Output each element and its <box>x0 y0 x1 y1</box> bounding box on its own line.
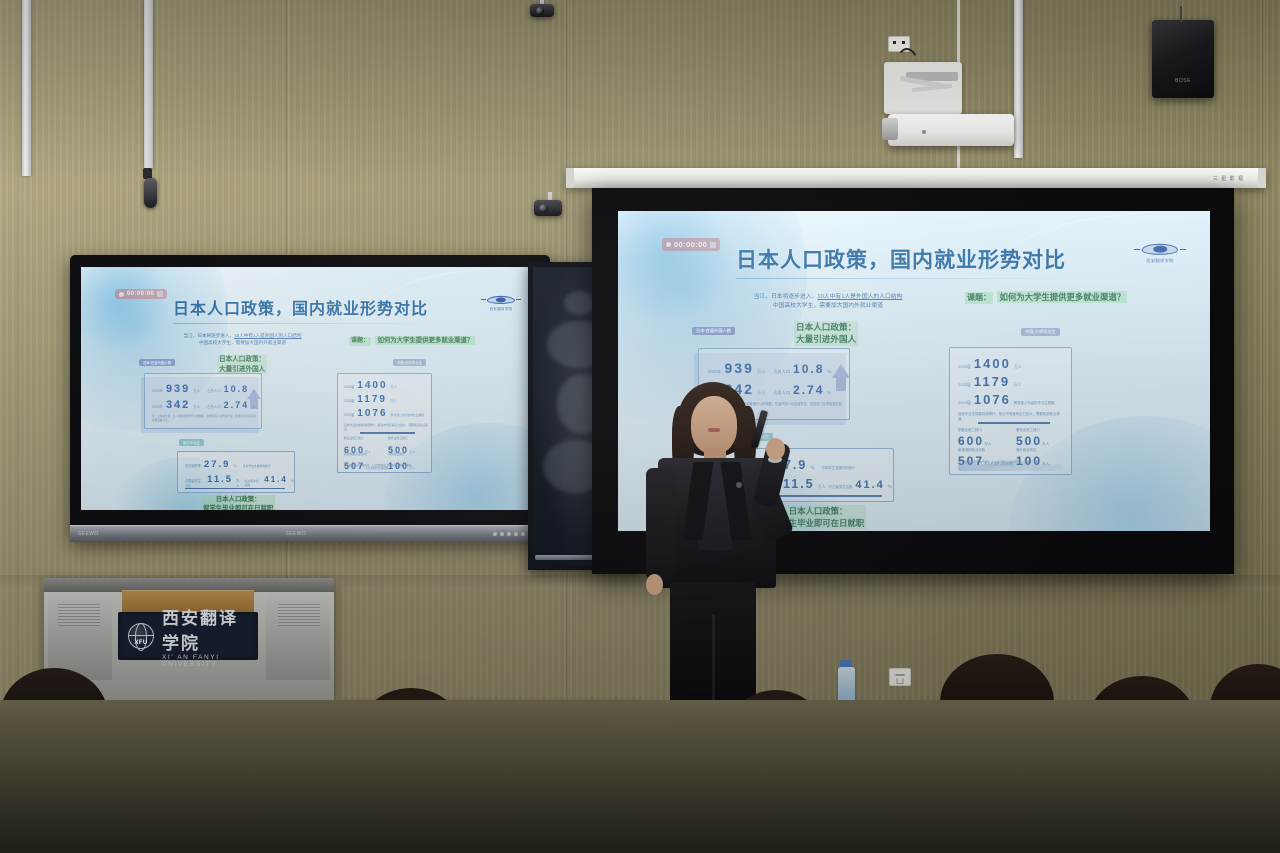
row-value2: 10.8 <box>793 362 824 376</box>
divider-line <box>185 488 285 489</box>
nameplate-text: 西安翻译学院 XI' AN FANYI UNIVERSITY <box>162 604 248 668</box>
row-unit: 万人 <box>391 384 397 389</box>
projector-indicator-icon <box>922 130 926 134</box>
callout-left-caption: 日本人口政策： 大量引进外国人 <box>794 321 858 346</box>
callout-left-tag: 日本·在留外国人数 <box>692 327 735 335</box>
row-value: 1400 <box>974 356 1011 371</box>
row-label: 2013年 <box>152 404 163 409</box>
presenter-hand-left <box>646 574 663 595</box>
row-value2: 10.8 <box>224 384 250 394</box>
row-mid: 约占留学生总数 <box>829 484 853 489</box>
intro-line2: 中国高校大学生，需要加大国内外就业渠道 <box>199 340 286 345</box>
intro-prefix: 当江，日本将逐步进入， <box>184 333 235 338</box>
data-row: 2024届 1076 教育部公布高校毕业生规模 <box>958 392 1055 407</box>
classroom-scene: BOSE 00:00:00 日本人口政策，国内就业形势对比 <box>0 0 1280 853</box>
slide-timer-badge: 00:00:00 <box>662 238 720 251</box>
data-row: 在日就职率 27.9 ％ 日本学生支援机构统计 <box>185 459 271 470</box>
data-row: 2023年 939 万人 占总人口 10.8 ％ <box>708 360 832 376</box>
row-label: 2024届 <box>344 412 354 417</box>
board-button-icon[interactable] <box>521 532 525 536</box>
globe-logo-icon: XFU <box>128 623 154 649</box>
conduit-pipe <box>22 0 31 176</box>
slide-intro-text: 当江，日本将逐步进入，10人中有1人是外国人的人口结构 中国高校大学生，需要加大… <box>155 333 330 347</box>
smartboard-brand-center: SEEWO <box>286 531 307 537</box>
logo-eye-pupil <box>1153 246 1167 253</box>
caption-line2: 大量引进外国人 <box>219 366 265 373</box>
row-label: 2026届 <box>344 384 354 389</box>
row-unit: 万人 <box>1014 364 1022 370</box>
data-row: 2013年 342 万人 占总人口 2.74 ％ <box>152 399 256 411</box>
university-name-cn: 西安翻译学院 <box>162 604 248 654</box>
wall-seam <box>1262 0 1265 720</box>
row-unit: ％ <box>233 463 236 468</box>
caption-line1: 日本人口政策： <box>219 356 265 363</box>
camera-lens-icon <box>536 7 544 15</box>
callout-right-subnote: 高校毕业生规模持续攀升，就业市场竞争压力加大，需要拓宽就业渠道。 <box>958 411 1066 421</box>
task-box: 课题： 如何为大学生提供更多就业渠道？ <box>349 329 484 347</box>
row-unit2: ％ <box>888 484 892 490</box>
callout-right-box: 2026届 1400 万人 2025届 1179 万人 2024届 1076 教… <box>337 373 432 473</box>
row-label: 2026届 <box>958 364 971 370</box>
row-label2: 占总人口 <box>207 404 221 409</box>
row-unit2: ％ <box>827 390 831 396</box>
callout-right-tag: 中国·大学毕业生 <box>1021 328 1060 336</box>
hanging-microphone <box>144 178 157 208</box>
projection-screen-housing: 三 星 影 视 <box>566 168 1266 188</box>
slide-timer-value: 00:00:00 <box>127 291 154 297</box>
data-row: 2023年 939 万人 占总人口 10.8 ％ <box>152 383 256 395</box>
callout-right-subnote: 高校毕业生规模持续攀升，就业市场竞争压力加大，需要拓宽就业渠道。 <box>344 423 428 431</box>
task-question: 如何为大学生提供更多就业渠道？ <box>997 291 1127 303</box>
housing-brand-label: 三 星 影 视 <box>1213 175 1244 182</box>
callout-left-caption: 日本人口政策： 大量引进外国人 <box>217 355 267 374</box>
speaker-cable <box>1180 6 1182 22</box>
divider-line <box>978 422 1050 424</box>
row-label: 在日就职率 <box>185 463 201 468</box>
podium-nameplate: XFU 西安翻译学院 XI' AN FANYI UNIVERSITY <box>118 612 258 660</box>
board-button-icon[interactable] <box>514 532 518 536</box>
row-value: 939 <box>166 383 190 395</box>
caption-line2: 留学生毕业即可在日就职 <box>203 505 273 510</box>
presenter-hand-right <box>766 438 785 460</box>
smartboard-brand-left: SEEWO <box>78 531 99 537</box>
smartboard-control-bar[interactable]: SEEWO SEEWO <box>70 525 550 542</box>
callout-right-foot: 注：数据来源于教育部、人力资源和社会保障部公开统计资料。 <box>344 463 428 467</box>
board-button-icon[interactable] <box>493 532 497 536</box>
cell-tail: 人力资源社会保障部 <box>365 467 388 470</box>
row-mid: 约占留学生总数 <box>245 479 262 487</box>
row-tail: 教育部公布高校毕业生规模 <box>1014 400 1055 405</box>
slide-intro-text: 当江，日本将逐步进入，10人中有1人是外国人的人口结构 中国高校大学生，需要加大… <box>714 293 942 310</box>
wall-seam <box>18 0 21 720</box>
row-label: 2023年 <box>708 369 722 375</box>
cell-value: 500 <box>1016 434 1042 448</box>
callout-right-tag: 中国·大学毕业生 <box>393 359 426 366</box>
row-label: 2023年 <box>152 388 163 393</box>
logo-tick-icon <box>481 299 486 300</box>
microphone-wire <box>147 0 150 172</box>
projector-lens <box>882 118 898 140</box>
camera-lens-icon <box>539 204 548 213</box>
callout-right-box: 2026届 1400 万人 2025届 1179 万人 2024届 1076 教… <box>949 347 1072 475</box>
row-value2: 41.4 <box>855 479 884 491</box>
presenter-lapel-pin <box>736 482 742 488</box>
presenter-arm-left <box>646 468 676 580</box>
task-question: 如何为大学生提供更多就业渠道？ <box>375 336 475 345</box>
row-unit2: ％ <box>291 478 294 483</box>
row-unit: 万人 <box>193 404 200 409</box>
row-unit: 万人 <box>390 398 396 403</box>
slide-timer-value: 00:00:00 <box>674 240 707 249</box>
row-label: 2025届 <box>344 398 354 403</box>
row-label: 2025届 <box>958 382 971 388</box>
row-tail: 日本学生支援机构统计 <box>243 464 271 468</box>
logo-eye-icon <box>481 293 521 306</box>
row-label: 中国留学生占比 <box>185 478 204 488</box>
row-label2: 占总人口 <box>773 369 790 375</box>
data-row: 中国留学生占比 11.5 万人 约占留学生总数 41.4 ％ <box>185 474 294 488</box>
housing-end-cap <box>1258 168 1266 188</box>
smartboard-slide: 00:00:00 日本人口政策，国内就业形势对比 西安翻译学院 当江，日本将逐步… <box>81 267 539 510</box>
cell-unit: 万人 <box>984 442 991 446</box>
row-value: 939 <box>725 360 754 376</box>
housing-end-cap <box>566 168 574 188</box>
row-value: 27.9 <box>204 459 231 470</box>
data-row: 2026届 1400 万人 <box>344 380 397 391</box>
intro-prefix: 当江，日本将逐步进入， <box>754 294 818 300</box>
task-label: 课题： <box>965 292 993 304</box>
callout-left-tag: 日本·在留外国人数 <box>139 359 175 366</box>
row-unit2: ％ <box>827 369 831 375</box>
row-label: 2024届 <box>958 400 971 406</box>
task-box: 课题： 如何为大学生提供更多就业渠道？ <box>965 287 1145 305</box>
slide-title: 日本人口政策，国内就业形势对比 <box>173 295 428 319</box>
row-label2: 占总人口 <box>207 388 221 393</box>
slide-timer-badge: 00:00:00 <box>115 289 167 299</box>
record-dot-icon <box>119 292 124 297</box>
floor <box>0 700 1280 853</box>
logo-caption: 西安翻译学院 <box>481 306 521 311</box>
row-value: 1179 <box>357 394 387 405</box>
cell-value: 600 <box>958 434 984 448</box>
logo-caption: 西安翻译学院 <box>1134 258 1186 264</box>
interactive-smartboard[interactable]: 00:00:00 日本人口政策，国内就业形势对比 西安翻译学院 当江，日本将逐步… <box>70 255 550 540</box>
caption-line1: 日本人口政策： <box>216 496 261 503</box>
row-value2: 2.74 <box>224 400 250 410</box>
row-value: 342 <box>166 399 190 411</box>
callout-bottom-box: 在日就职率 27.9 ％ 日本学生支援机构统计 中国留学生占比 11.5 万人 … <box>177 451 295 493</box>
timer-square-icon <box>157 291 163 297</box>
row-tail: 日本学生支援机构统计 <box>821 465 855 470</box>
logo-eye-icon <box>1134 241 1186 258</box>
caption-line2: 大量引进外国人 <box>796 334 856 344</box>
row-unit2: ％ <box>252 404 255 409</box>
row-unit2: ％ <box>252 388 255 393</box>
row-value: 1076 <box>357 408 387 419</box>
row-unit: 万人 <box>757 369 765 375</box>
conduit-pipe <box>1014 0 1023 158</box>
callout-right-note-bar <box>958 464 1062 471</box>
wall-speaker: BOSE <box>1152 20 1214 98</box>
speaker-brand-label: BOSE <box>1152 78 1214 84</box>
task-label: 课题： <box>349 337 371 346</box>
callout-bottom-tag: 留日毕业生 <box>179 439 204 446</box>
row-tail: 教育部公布高校毕业生规模 <box>391 413 425 417</box>
data-row: 2026届 1400 万人 <box>958 356 1022 371</box>
divider-line <box>360 432 415 434</box>
intro-line2: 中国高校大学生，需要加大国内外就业渠道 <box>773 303 883 309</box>
data-row: 2025届 1179 万人 <box>344 394 396 405</box>
callout-bottom-caption: 日本人口政策： 留学生毕业即可在日就职 <box>201 495 275 510</box>
timer-square-icon <box>710 242 716 248</box>
row-unit: 万人 <box>236 478 241 488</box>
ceiling-projector <box>888 114 1014 146</box>
cell-unit: 万人 <box>1042 442 1049 446</box>
logo-tick-icon <box>1134 249 1140 250</box>
row-unit: 万人 <box>193 388 200 393</box>
row-unit: 万人 <box>818 484 826 490</box>
slide-title: 日本人口政策，国内就业形势对比 <box>736 244 1066 274</box>
presenter-face <box>691 396 737 454</box>
row-value: 11.5 <box>207 474 233 485</box>
university-abbreviation: XFU <box>135 640 148 646</box>
university-logo: 西安翻译学院 <box>1134 241 1186 269</box>
university-name-en: XI' AN FANYI UNIVERSITY <box>162 654 248 668</box>
presenter <box>636 382 816 722</box>
row-unit: 万人 <box>1013 382 1021 388</box>
podium-vent <box>278 604 320 626</box>
podium-vent <box>58 604 100 626</box>
presenter-mouth <box>708 428 720 432</box>
smartboard-screen[interactable]: 00:00:00 日本人口政策，国内就业形势对比 西安翻译学院 当江，日本将逐步… <box>81 267 539 510</box>
record-dot-icon <box>666 242 671 247</box>
logo-tick-icon <box>516 299 521 300</box>
caption-line1: 日本人口政策： <box>796 322 856 332</box>
board-button-icon[interactable] <box>507 532 511 536</box>
callout-left-box: 2023年 939 万人 占总人口 10.8 ％ 2013年 342 万人 占总… <box>144 373 262 429</box>
row-value: 1076 <box>974 392 1011 407</box>
callout-left-note: 注：日本总务省、出入国在留管理厅公布数据，在留外国人包含留学生、技能实习生等各类… <box>152 415 256 423</box>
wall-socket <box>889 668 911 686</box>
board-button-icon[interactable] <box>500 532 504 536</box>
logo-tick-icon <box>1180 249 1186 250</box>
data-row: 2024届 1076 教育部公布高校毕业生规模 <box>344 408 424 419</box>
intro-underline: 10人中有1人是外国人的人口结构 <box>234 333 301 338</box>
row-value2: 41.4 <box>264 475 288 484</box>
row-value: 1400 <box>357 380 387 391</box>
university-logo: 西安翻译学院 <box>481 293 521 315</box>
row-value: 1179 <box>974 374 1010 389</box>
chalk-smudge <box>564 291 595 315</box>
data-row: 2025届 1179 万人 <box>958 374 1021 389</box>
intro-underline: 10人中有1人是外国人的人口结构 <box>817 294 902 300</box>
